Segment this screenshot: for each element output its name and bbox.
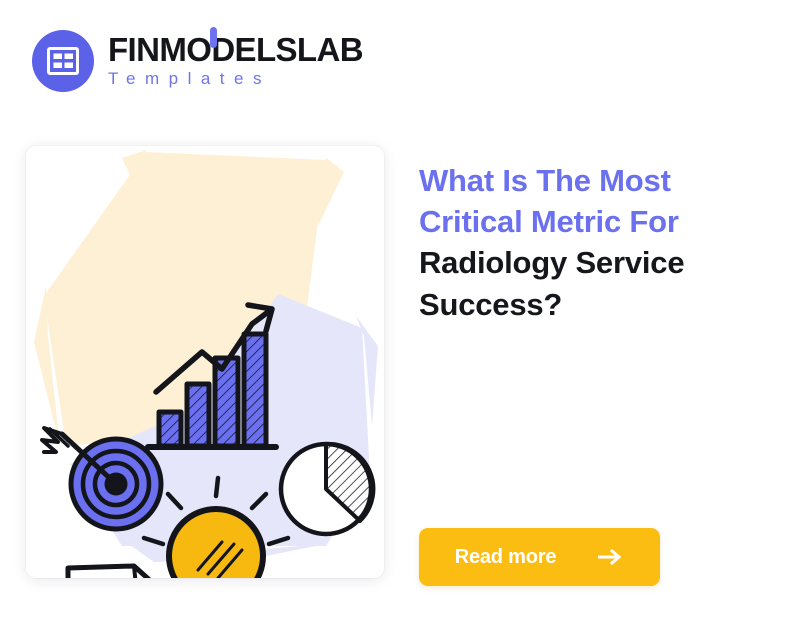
grid-squares-icon bbox=[32, 30, 94, 92]
brand-logo[interactable]: FINMODELSLAB Templates bbox=[32, 30, 363, 92]
promo-banner: FINMODELSLAB Templates bbox=[0, 0, 800, 618]
read-more-label: Read more bbox=[455, 546, 557, 569]
page-title: What Is The Most Critical Metric For Rad… bbox=[419, 160, 775, 325]
brand-subtitle: Templates bbox=[108, 70, 363, 89]
brand-title: FINMODELSLAB bbox=[108, 33, 363, 68]
headline-block: What Is The Most Critical Metric For Rad… bbox=[419, 160, 775, 325]
lightbulb-sun-icon bbox=[169, 509, 263, 578]
read-more-button[interactable]: Read more bbox=[419, 528, 660, 586]
arrow-right-icon bbox=[598, 549, 624, 565]
business-metrics-illustration bbox=[26, 146, 384, 578]
brand-wordmark: FINMODELSLAB Templates bbox=[108, 33, 363, 89]
pie-chart bbox=[281, 444, 373, 534]
illustration-card bbox=[26, 146, 384, 578]
headline-accent: What Is The Most Critical Metric For bbox=[419, 163, 679, 239]
drop-accent-icon bbox=[210, 27, 217, 48]
headline-main: Radiology Service Success? bbox=[419, 245, 684, 321]
brand-title-text: FINMODELSLAB bbox=[108, 31, 363, 68]
